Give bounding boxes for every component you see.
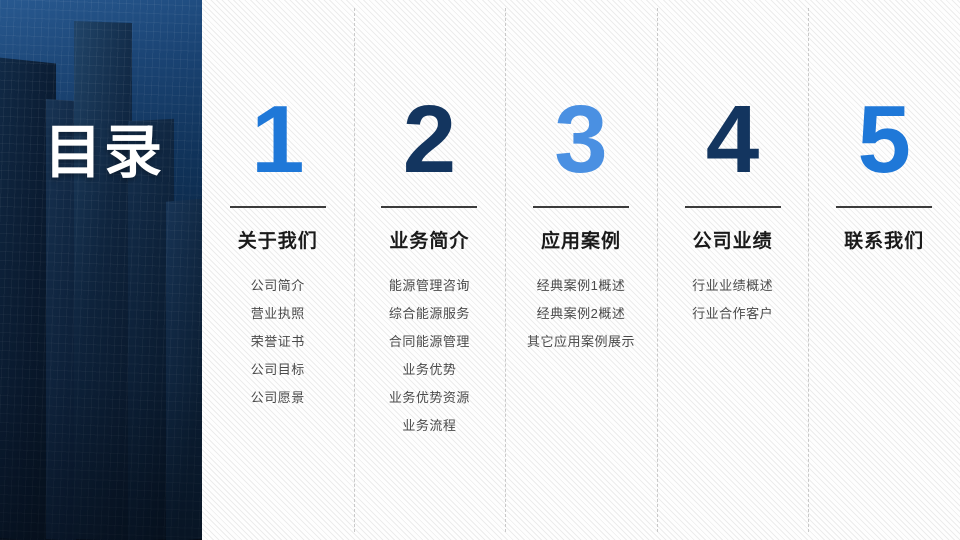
photo-overlay <box>0 0 202 540</box>
column-items: 能源管理咨询 综合能源服务 合同能源管理 业务优势 业务优势资源 业务流程 <box>389 275 470 434</box>
column-number: 5 <box>857 92 910 188</box>
list-item[interactable]: 经典案例1概述 <box>537 275 626 294</box>
column-divider <box>230 206 326 208</box>
list-item[interactable]: 行业合作客户 <box>692 303 773 322</box>
agenda-column-3[interactable]: 3 应用案例 经典案例1概述 经典案例2概述 其它应用案例展示 <box>505 0 657 540</box>
slide: 目录 1 关于我们 公司简介 营业执照 荣誉证书 公司目标 公司愿景 2 业务简… <box>0 0 960 540</box>
list-item[interactable]: 合同能源管理 <box>389 331 470 350</box>
list-item[interactable]: 公司目标 <box>251 359 305 378</box>
column-divider <box>836 206 932 208</box>
column-heading: 业务简介 <box>389 226 469 253</box>
column-number: 2 <box>403 92 456 188</box>
column-divider <box>685 206 781 208</box>
column-items: 行业业绩概述 行业合作客户 <box>692 275 773 322</box>
column-number: 3 <box>554 92 607 188</box>
column-items: 公司简介 营业执照 荣誉证书 公司目标 公司愿景 <box>251 275 305 406</box>
column-heading: 关于我们 <box>238 226 318 253</box>
agenda-column-2[interactable]: 2 业务简介 能源管理咨询 综合能源服务 合同能源管理 业务优势 业务优势资源 … <box>354 0 506 540</box>
agenda-column-1[interactable]: 1 关于我们 公司简介 营业执照 荣誉证书 公司目标 公司愿景 <box>202 0 354 540</box>
list-item[interactable]: 行业业绩概述 <box>692 275 773 294</box>
list-item[interactable]: 荣誉证书 <box>251 331 305 350</box>
list-item[interactable]: 综合能源服务 <box>389 303 470 322</box>
list-item[interactable]: 能源管理咨询 <box>389 275 470 294</box>
list-item[interactable]: 营业执照 <box>251 303 305 322</box>
column-heading: 应用案例 <box>541 226 621 253</box>
column-items: 经典案例1概述 经典案例2概述 其它应用案例展示 <box>527 275 635 350</box>
agenda-columns: 1 关于我们 公司简介 营业执照 荣誉证书 公司目标 公司愿景 2 业务简介 能… <box>202 0 960 540</box>
column-number: 1 <box>251 92 304 188</box>
column-divider <box>533 206 629 208</box>
list-item[interactable]: 业务流程 <box>402 415 456 434</box>
column-heading: 公司业绩 <box>693 226 773 253</box>
column-heading: 联系我们 <box>844 226 924 253</box>
agenda-column-4[interactable]: 4 公司业绩 行业业绩概述 行业合作客户 <box>657 0 809 540</box>
building-photo: 目录 <box>0 0 202 540</box>
agenda-column-5[interactable]: 5 联系我们 <box>808 0 960 540</box>
list-item[interactable]: 业务优势 <box>402 359 456 378</box>
menu-title: 目录 <box>44 118 164 188</box>
list-item[interactable]: 公司愿景 <box>251 387 305 406</box>
column-divider <box>381 206 477 208</box>
list-item[interactable]: 经典案例2概述 <box>537 303 626 322</box>
list-item[interactable]: 其它应用案例展示 <box>527 331 635 350</box>
list-item[interactable]: 业务优势资源 <box>389 387 470 406</box>
column-number: 4 <box>706 92 759 188</box>
list-item[interactable]: 公司简介 <box>251 275 305 294</box>
